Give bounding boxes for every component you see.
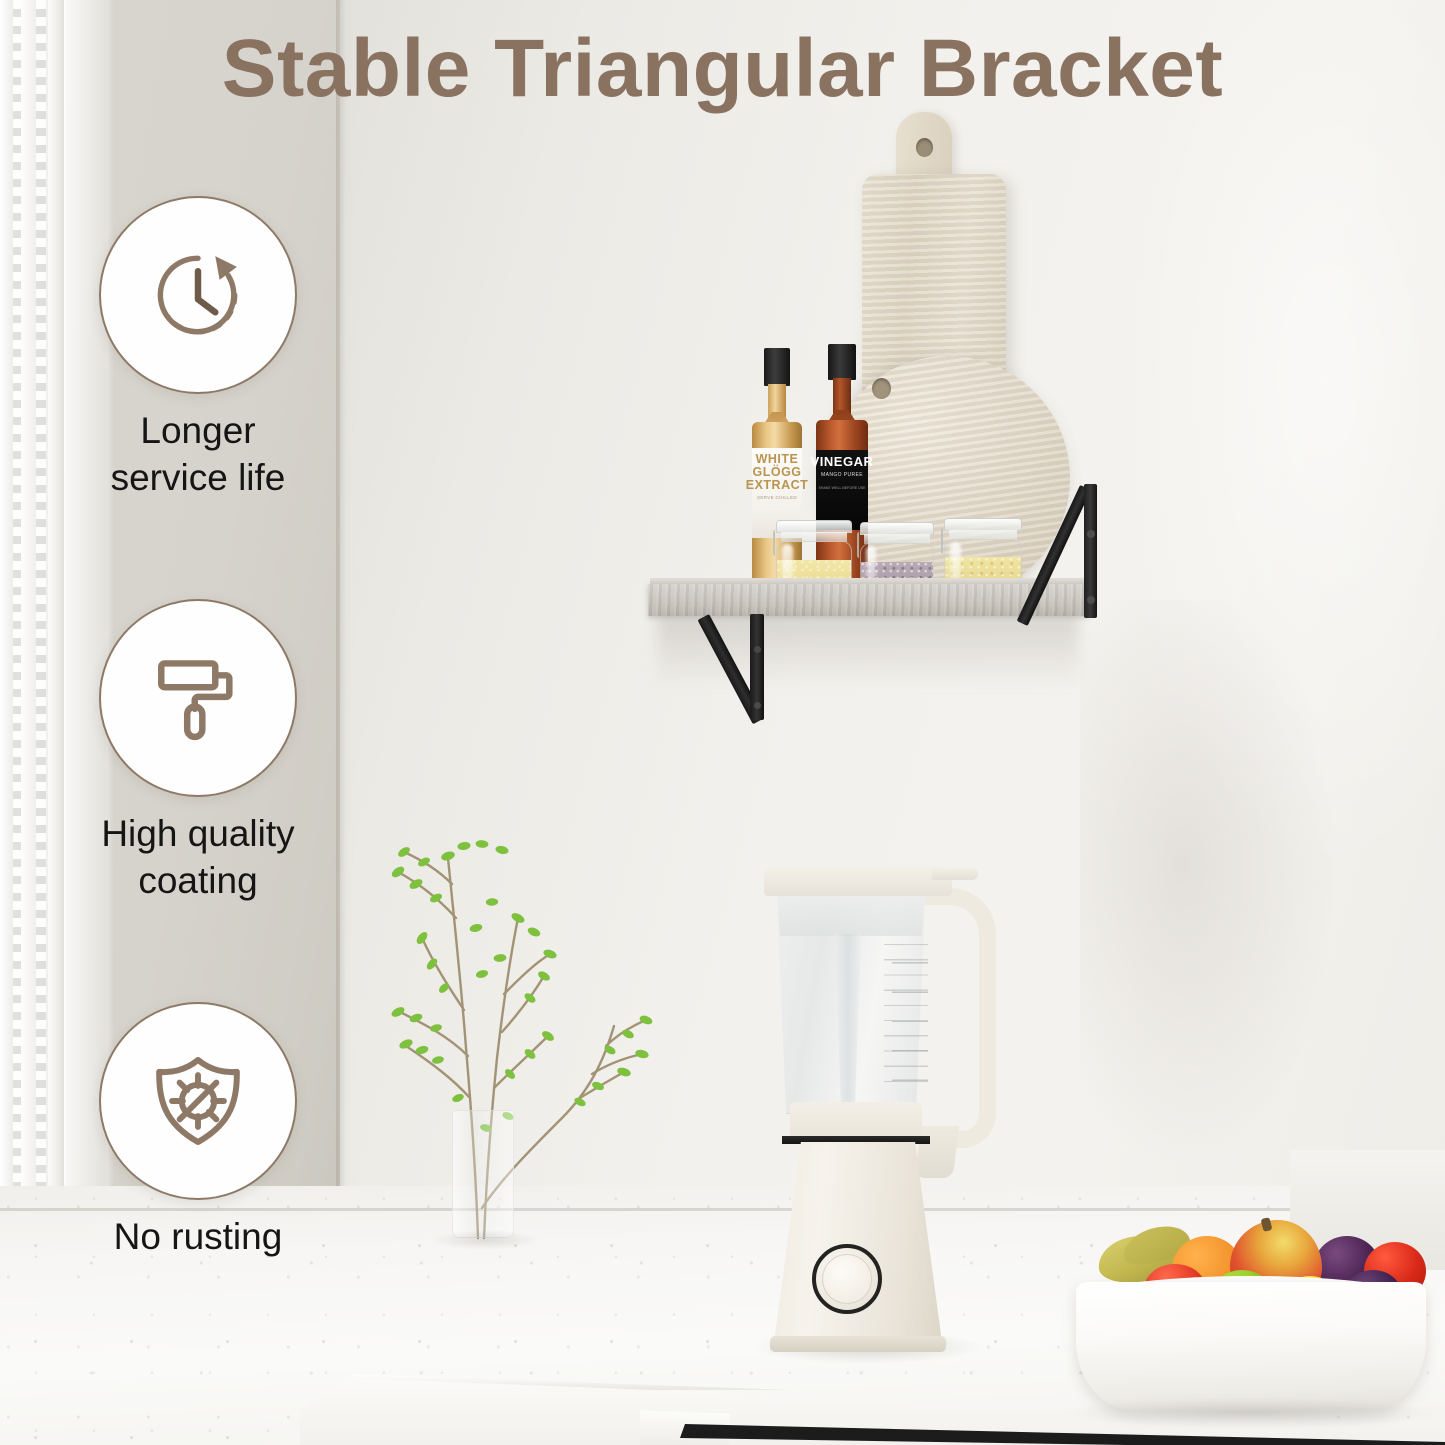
- paint-roller-icon: [144, 644, 252, 752]
- feature-badge: [99, 196, 297, 394]
- blender-dial-knob[interactable]: [822, 1254, 872, 1304]
- feature-badge: [99, 599, 297, 797]
- feature-label: No rusting: [58, 1214, 338, 1261]
- triangular-bracket-right: [1053, 484, 1097, 620]
- triangular-bracket-left: [700, 614, 800, 722]
- blender-collar: [790, 1102, 922, 1140]
- fruit-bowl: [1064, 1214, 1445, 1442]
- plant-branches-icon: [352, 798, 702, 1268]
- floating-wall-shelf: WHITE GLÖGG EXTRACT SERVE CHILLED VINEGA…: [648, 170, 1108, 730]
- feature-label: Longerservice life: [58, 408, 338, 501]
- label-line-2: GLÖGG: [752, 466, 801, 479]
- paddle-board-hole: [916, 138, 933, 157]
- blender-foot: [770, 1336, 946, 1352]
- label-line-3: EXTRACT: [746, 479, 809, 492]
- label-line-1: VINEGAR: [811, 455, 874, 468]
- feature-label: High qualitycoating: [58, 811, 338, 904]
- blind-vane-right: [21, 0, 36, 1240]
- bowl-shadow: [1064, 1398, 1444, 1428]
- label-subtext: SERVE CHILLED: [757, 495, 797, 500]
- blender-lid-spout: [932, 868, 978, 880]
- shield-no-rust-icon: [144, 1047, 252, 1155]
- label-line-1: WHITE: [756, 453, 799, 466]
- potted-branch-plant: [352, 798, 702, 1268]
- countertop-blender: [742, 854, 1024, 1374]
- mango-stem: [1261, 1217, 1273, 1232]
- clock-arrow-icon: [144, 241, 252, 349]
- bottle-cap: [828, 344, 856, 380]
- blender-lid: [764, 866, 952, 896]
- bottle-label: VINEGAR MANGO PUREE SHAKE WELL BEFORE US…: [816, 450, 868, 530]
- clear-glass-vase: [452, 1110, 514, 1238]
- bracket-screw: [754, 702, 761, 709]
- feature-high-quality-coating: High qualitycoating: [58, 599, 338, 904]
- feature-list: Longerservice life High qualitycoating: [58, 196, 338, 1261]
- blender-handle: [920, 888, 996, 1148]
- blender-measurement-marks-major: [892, 934, 928, 1084]
- feature-badge: [99, 1002, 297, 1200]
- feature-no-rusting: No rusting: [58, 1002, 338, 1261]
- bracket-screw: [754, 646, 761, 653]
- label-subtext-2: SHAKE WELL BEFORE USE: [819, 486, 866, 491]
- bracket-screw: [1087, 530, 1095, 538]
- bracket-screw: [1087, 596, 1095, 604]
- round-board-hole: [872, 378, 891, 399]
- page-title: Stable Triangular Bracket: [0, 22, 1445, 116]
- blind-vane-left: [0, 0, 13, 1240]
- bottle-cap: [764, 348, 790, 386]
- vase-shadow: [430, 1230, 540, 1250]
- bowl-body: [1076, 1282, 1426, 1410]
- feature-longer-service-life: Longerservice life: [58, 196, 338, 501]
- label-subtext: MANGO PUREE: [821, 472, 863, 478]
